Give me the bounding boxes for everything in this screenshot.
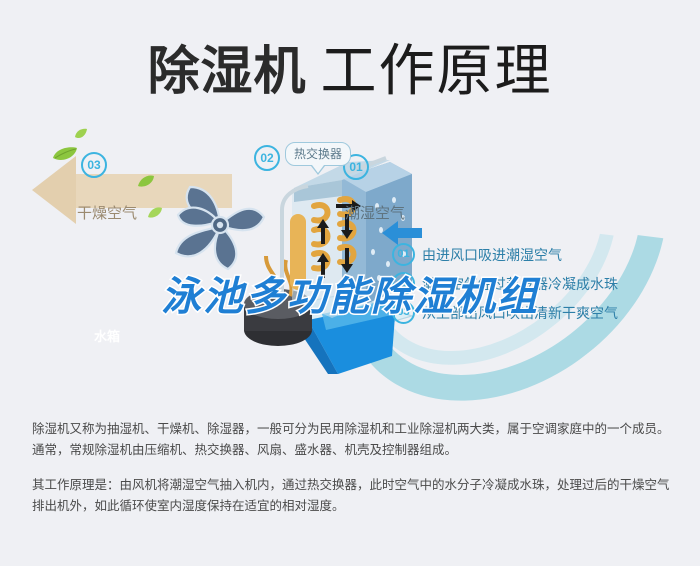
badge-dry-air: 03 — [81, 152, 107, 178]
watermark-overlay: 泳池多功能除湿机组 — [0, 264, 700, 322]
step-text: 由进风口吸进潮湿空气 — [422, 245, 562, 265]
label-water-tank: 水箱 — [94, 326, 120, 345]
callout-heat-exchanger: 热交换器 — [285, 142, 351, 166]
body-paragraph-2: 其工作原理是：由风机将潮湿空气抽入机内，通过热交换器，此时空气中的水分子冷凝成水… — [32, 474, 672, 516]
leaf-icon — [74, 128, 88, 140]
step-number: 01 — [392, 243, 415, 266]
leaf-icon — [137, 174, 155, 188]
label-dry-air: 干燥空气 — [77, 202, 137, 223]
leaf-icon — [52, 146, 78, 162]
infographic-page: 除湿机工作原理 — [0, 0, 700, 566]
page-title-bold: 除湿机 — [147, 42, 306, 102]
dehumidifier-diagram: 03 02 01 热交换器 干燥空气 潮湿空气 水箱 01 由进风口吸进潮湿空气… — [0, 110, 700, 390]
page-title: 除湿机工作原理 — [0, 26, 700, 107]
label-humid-air: 潮湿空气 — [345, 202, 405, 223]
badge-heat-exchanger: 02 — [254, 145, 280, 171]
body-copy: 除湿机又称为抽湿机、干燥机、除湿器，一般可分为民用除湿机和工业除湿机两大类，属于… — [32, 418, 672, 530]
body-paragraph-1: 除湿机又称为抽湿机、干燥机、除湿器，一般可分为民用除湿机和工业除湿机两大类，属于… — [32, 418, 672, 460]
page-title-light: 工作原理 — [321, 39, 553, 104]
